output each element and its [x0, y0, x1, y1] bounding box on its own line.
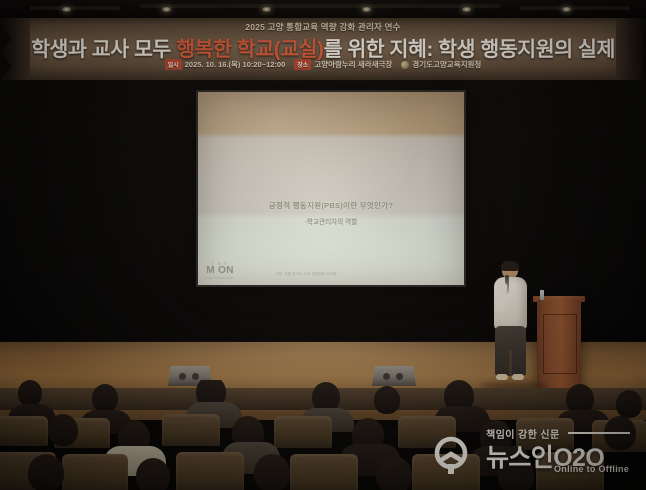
banner-place: 장소 고양아람누리 새라새극장: [294, 59, 392, 70]
conference-photo: 2025 고양 통합교육 역량 강화 관리자 연수 학생과 교사 모두 행복한 …: [0, 0, 646, 490]
audience-member: [92, 384, 118, 412]
audience-member: [254, 454, 290, 490]
ceiling-light-icon: [162, 7, 171, 12]
banner-panel: 2025 고양 통합교육 역량 강화 관리자 연수 학생과 교사 모두 행복한 …: [16, 18, 630, 80]
audience-member: [374, 386, 400, 414]
ceiling-light-icon: [462, 7, 471, 12]
screen-vignette: [198, 92, 464, 285]
place-tag: 장소: [294, 59, 311, 70]
banner-title-part2: 를 위한 지혜: 학생 행동지원의 실제: [324, 38, 615, 61]
ceiling-truss: [140, 4, 500, 8]
date-tag: 일시: [165, 59, 182, 70]
ceiling-truss: [30, 6, 120, 10]
theater-seat: [162, 414, 220, 446]
audience-member: [136, 458, 170, 490]
ceiling-light-icon: [562, 7, 571, 12]
theater-seat: [176, 452, 244, 490]
organizer-emblem-icon: [401, 61, 409, 69]
monitor-port: [396, 373, 403, 380]
banner-title: 학생과 교사 모두 행복한 학교(교실)를 위한 지혜: 학생 행동지원의 실제: [16, 32, 630, 62]
banner-title-part1: 학생과 교사 모두: [31, 38, 176, 61]
theater-seat: [274, 416, 332, 448]
banner-info-row: 일시 2025. 10. 16.(목) 10:20~12:00 장소 고양아람누…: [16, 59, 630, 70]
slide-heading: 긍정적 행동지원(PBS)이란 무엇인가?: [198, 200, 464, 211]
water-bottle: [540, 290, 544, 300]
monitor-port: [383, 373, 390, 380]
watermark-subtitle: Online to Offline: [554, 464, 629, 474]
audience-member: [48, 414, 78, 446]
presenter-hair: [501, 261, 519, 271]
projection-screen: 긍정적 행동지원(PBS)이란 무엇인가? -학교관리자의 역할 T H E M…: [196, 90, 466, 287]
news-o2o-logo-icon: [422, 434, 480, 476]
ceiling-truss: [520, 6, 630, 10]
watermark: 책임이 강한 신문 뉴스인O2O Online to Offline: [420, 424, 636, 484]
ceiling-light-icon: [262, 7, 271, 12]
podium-front-panel: [543, 314, 577, 374]
slide-logo-sub: THE MOON EDU: [205, 277, 235, 280]
place-value: 고양아람누리 새라새극장: [314, 59, 392, 70]
slide-credit: 사단 사법 연구소 수석 컨설턴트 이사장: [276, 271, 337, 276]
watermark-rule: [568, 432, 630, 434]
ceiling-light-icon: [62, 7, 71, 12]
slide-logo: T H E M ON THE MOON EDU: [205, 263, 235, 280]
event-banner: 2025 고양 통합교육 역량 강화 관리자 연수 학생과 교사 모두 행복한 …: [0, 18, 646, 80]
audience-member: [376, 456, 412, 490]
monitor-port: [192, 373, 199, 380]
audience-member: [28, 454, 64, 490]
banner-date: 일시 2025. 10. 16.(목) 10:20~12:00: [165, 59, 286, 70]
organizer-name: 경기도고양교육지원청: [412, 59, 481, 70]
banner-organizer: 경기도고양교육지원청: [401, 59, 481, 70]
theater-seat: [0, 416, 48, 446]
ceiling: [0, 0, 646, 18]
presenter-leg-gap: [509, 350, 512, 376]
monitor-port: [179, 373, 186, 380]
ceiling-light-icon: [362, 7, 371, 12]
presenter: [488, 262, 534, 390]
theater-seat: [290, 454, 358, 490]
audience-member: [616, 390, 642, 418]
slide-subheading: -학교관리자의 역할: [198, 216, 464, 226]
theater-seat: [62, 454, 128, 490]
screen-surface: 긍정적 행동지원(PBS)이란 무엇인가? -학교관리자의 역할 T H E M…: [198, 92, 464, 285]
date-value: 2025. 10. 16.(목) 10:20~12:00: [185, 59, 286, 70]
audience-member: [18, 380, 42, 406]
slide-logo-name: M ON: [205, 266, 235, 276]
banner-title-highlight: 행복한 학교(교실): [176, 38, 323, 61]
